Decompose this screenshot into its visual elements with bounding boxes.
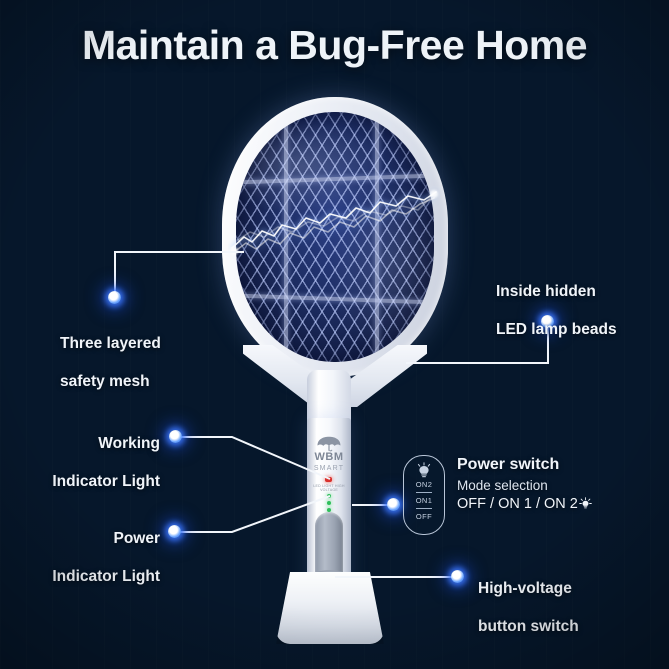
callout-line-2: button switch: [478, 617, 658, 636]
callout-dot-high-voltage[interactable]: [451, 570, 464, 583]
infographic-canvas: Maintain a Bug-Free Home: [0, 0, 669, 669]
sun-icon: [579, 497, 592, 510]
switch-position-on1[interactable]: ON1: [404, 496, 444, 505]
callout-line-1: Power: [8, 529, 160, 548]
callout-dot-power-switch[interactable]: [387, 498, 400, 511]
callout-label-power-indicator: Power Indicator Light: [8, 510, 160, 605]
power-switch-modes-text: OFF / ON 1 / ON 2: [457, 496, 578, 512]
callout-line-2: LED lamp beads: [496, 320, 666, 339]
switch-divider-1: [416, 492, 432, 493]
power-switch-diagram[interactable]: ON2 ON1 OFF: [403, 455, 445, 535]
callout-label-working-indicator: Working Indicator Light: [8, 415, 160, 510]
callout-line-2: safety mesh: [60, 372, 250, 391]
callout-line-1: Three layered: [60, 334, 250, 353]
callout-line-1: Inside hidden: [496, 282, 666, 301]
power-switch-subtitle: Mode selection: [457, 477, 548, 495]
callout-line-1: High-voltage: [478, 579, 658, 598]
callout-label-high-voltage: High-voltage button switch: [478, 560, 658, 655]
callout-line-2: Indicator Light: [8, 567, 160, 586]
bulb-icon: [415, 462, 433, 478]
callout-label-safety-mesh: Three layered safety mesh: [60, 315, 250, 410]
callout-label-led-lamp-beads: Inside hidden LED lamp beads: [496, 263, 666, 358]
power-switch-title: Power switch: [457, 455, 559, 475]
switch-position-on2[interactable]: ON2: [404, 480, 444, 489]
callout-line-2: Indicator Light: [8, 472, 160, 491]
callout-dot-power-indicator[interactable]: [168, 525, 181, 538]
callout-line-1: Working: [8, 434, 160, 453]
switch-divider-2: [416, 508, 432, 509]
power-switch-modes: OFF / ON 1 / ON 2: [457, 495, 592, 513]
switch-position-off[interactable]: OFF: [404, 512, 444, 521]
callout-dot-safety-mesh[interactable]: [108, 291, 121, 304]
callout-dot-working-indicator[interactable]: [169, 430, 182, 443]
